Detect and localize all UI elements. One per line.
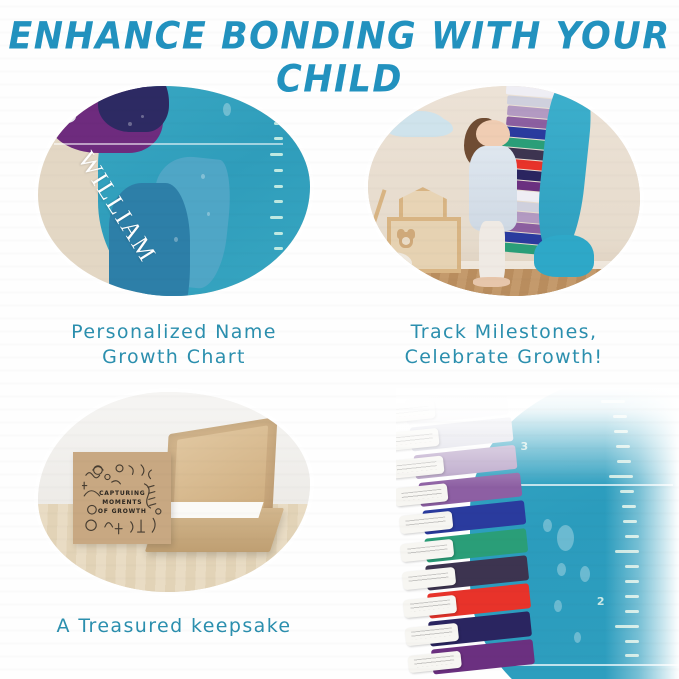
spike-label-tab [398,511,453,534]
box-tissue-paper [161,502,264,518]
box-text-line-2: MOMENTS [73,498,171,507]
ruler-tick-icon [274,122,283,125]
ruler-tick-icon [622,505,636,508]
box-text-line-3: OF GROWTH [73,507,171,516]
dino-spot-icon [223,103,231,116]
spike-label-tab [396,428,440,451]
ruler-tick-icon [625,640,639,643]
ruler-tick-icon [601,400,625,403]
dino-spot-icon [557,563,566,576]
ruler-tick-icon [274,263,283,266]
ruler-tick-icon [616,445,630,448]
caption-line-1: A Treasured keepsake [38,614,310,639]
ruler-tick-icon [625,535,639,538]
dino-spot-icon [580,566,590,582]
spike-label-tab [396,400,435,423]
panel-chart-closeup[interactable]: 3 2 [396,388,679,679]
spike-label-tab [400,539,455,562]
child-head [476,120,510,148]
box-text-line-1: CAPTURING [73,489,171,498]
ruler-tick-icon [617,460,631,463]
spike-label-tab [401,567,456,590]
box-printed-text: CAPTURING MOMENTS OF GROWTH [73,489,171,517]
ruler-tick-icon [620,490,634,493]
page-title: ENHANCE BONDING WITH YOUR CHILD [0,15,679,101]
caption-treasured-keepsake: A Treasured keepsake [38,614,310,639]
ruler-tick-icon [613,415,627,418]
panel-personalized-name[interactable]: WILLIAM [38,86,310,296]
ruler-tick-icon [625,595,639,598]
caption-line-1: Personalized Name [38,320,310,345]
dino-spot-icon [128,122,132,126]
ruler-tick-icon [625,580,639,583]
dino-head-shape [534,235,594,277]
panel-track-milestones[interactable] [368,86,640,296]
spike-label-tab [396,483,448,506]
ruler-ticks-group [271,90,283,292]
ruler-tick-icon [625,654,639,657]
teddy-bear-icon [399,232,413,249]
child-feet [473,277,510,287]
spike-label-tab [407,650,462,673]
panel-treasured-keepsake[interactable]: CAPTURING MOMENTS OF GROWTH [38,392,310,592]
spike-label-tab [396,456,444,479]
caption-track-milestones: Track Milestones, Celebrate Growth! [368,320,640,370]
ruler-tick-icon [625,565,639,568]
ruler-number-2: 2 [597,595,605,608]
ruler-tick-icon [623,520,637,523]
ruler-tick-icon [274,137,283,140]
child-figure [463,120,523,284]
ruler-tick-icon [625,610,639,613]
spike-label-tab [404,623,459,646]
ruler-tick-icon [270,216,283,219]
measure-line [54,143,283,145]
ruler-tick-icon [270,279,283,282]
ruler-tick-icon [615,550,639,553]
caption-personalized-name: Personalized Name Growth Chart [38,320,310,370]
cap-tag-icon [49,109,76,124]
ruler-tick-icon [274,232,283,235]
spike-label-tab [403,595,458,618]
caption-line-2: Growth Chart [38,345,310,370]
ruler-tick-icon [614,430,628,433]
ruler-tick-icon [270,153,283,156]
plush-toy-icon [373,252,411,275]
product-infographic-page: ENHANCE BONDING WITH YOUR CHILD WILLIAM … [0,0,679,679]
ruler-number-3: 3 [521,440,529,453]
caption-line-1: Track Milestones, [368,320,640,345]
ruler-tick-icon [274,169,283,172]
teddy-bear-face [402,237,410,245]
dino-spot-icon [207,212,210,216]
ruler-tick-icon [615,625,639,628]
caption-line-2: Celebrate Growth! [368,345,640,370]
kraft-doodle-card: CAPTURING MOMENTS OF GROWTH [73,452,171,544]
ruler-tick-icon [274,247,283,250]
ruler-tick-icon [609,475,633,478]
ruler-ticks-group-closeup [609,400,639,668]
ruler-tick-icon [274,106,283,109]
child-dress [469,146,517,231]
ruler-tick-icon [274,200,283,203]
cloud-wall-decor-icon [392,111,446,136]
ruler-tick-icon [274,185,283,188]
